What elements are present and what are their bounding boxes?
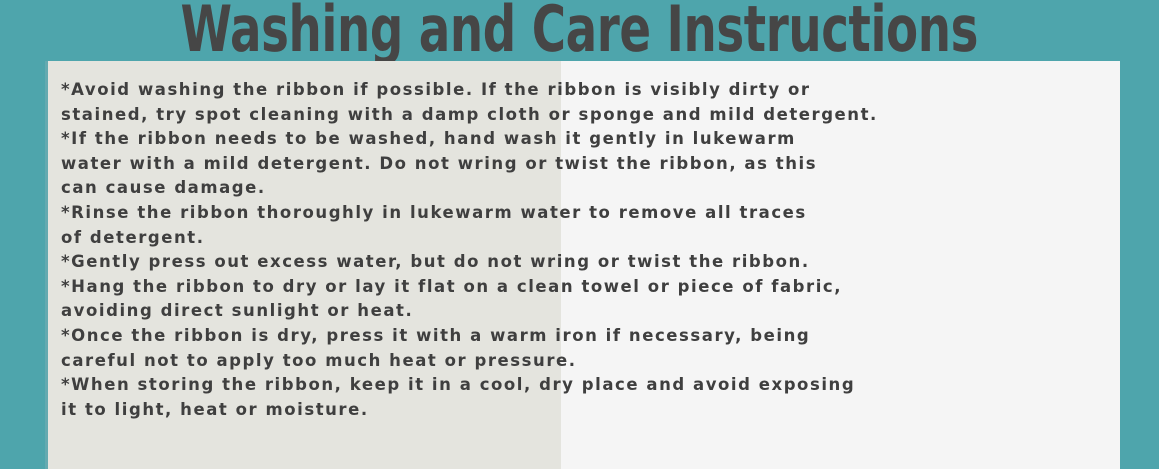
instruction-line: it to light, heat or moisture. [61, 398, 1114, 423]
title-bar: Washing and Care Instructions [0, 0, 1159, 60]
page-title: Washing and Care Instructions [181, 0, 979, 62]
instruction-line: *If the ribbon needs to be washed, hand … [61, 127, 1114, 152]
instruction-line: *Hang the ribbon to dry or lay it flat o… [61, 275, 1114, 300]
instruction-line: *Gently press out excess water, but do n… [61, 250, 1114, 275]
instruction-line: stained, try spot cleaning with a damp c… [61, 103, 1114, 128]
instruction-line: careful not to apply too much heat or pr… [61, 349, 1114, 374]
poster-canvas: Washing and Care Instructions *Avoid was… [0, 0, 1159, 469]
instruction-line: *Once the ribbon is dry, press it with a… [61, 324, 1114, 349]
instruction-line: *Rinse the ribbon thoroughly in lukewarm… [61, 201, 1114, 226]
panel-left-accent-stripe [45, 61, 48, 469]
instruction-line: *When storing the ribbon, keep it in a c… [61, 373, 1114, 398]
instruction-line: can cause damage. [61, 176, 1114, 201]
instruction-line: of detergent. [61, 226, 1114, 251]
instruction-line: avoiding direct sunlight or heat. [61, 299, 1114, 324]
instruction-line: *Avoid washing the ribbon if possible. I… [61, 78, 1114, 103]
instructions-text-block: *Avoid washing the ribbon if possible. I… [61, 78, 1114, 422]
instructions-panel: *Avoid washing the ribbon if possible. I… [45, 61, 1120, 469]
instruction-line: water with a mild detergent. Do not wrin… [61, 152, 1114, 177]
